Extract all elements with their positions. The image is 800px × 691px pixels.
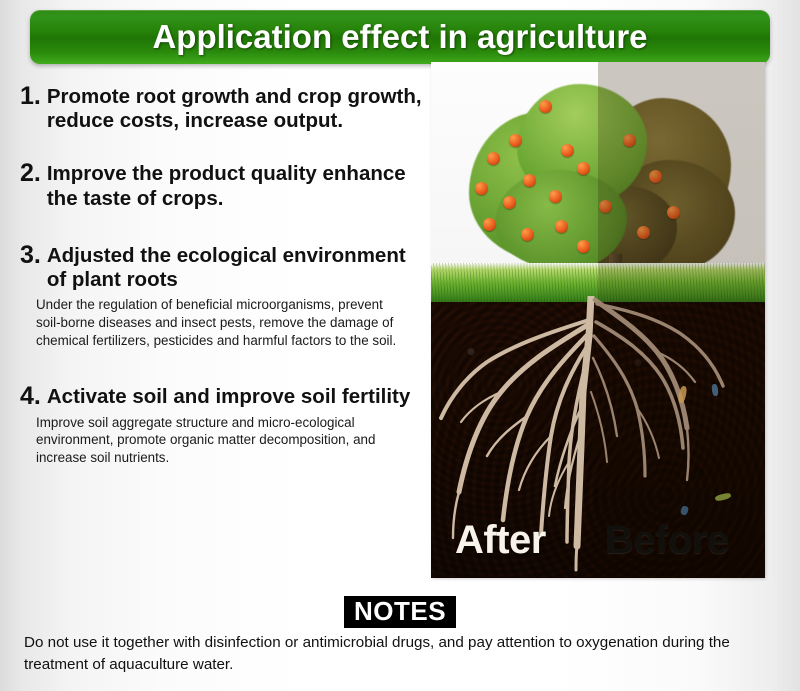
fruit-icon xyxy=(555,220,568,233)
figure-label-before: Before xyxy=(605,520,729,560)
list-item-1-heading: Promote root growth and crop growth, red… xyxy=(47,82,430,133)
fruit-icon xyxy=(577,240,590,253)
notes-badge-label: NOTES xyxy=(354,596,446,626)
list-item-4: 4. Activate soil and improve soil fertil… xyxy=(20,382,430,467)
list-item-4-heading: Activate soil and improve soil fertility xyxy=(47,382,430,409)
fruit-icon xyxy=(487,152,500,165)
fruit-icon xyxy=(523,174,536,187)
fruit-icon xyxy=(549,190,562,203)
fruit-icon xyxy=(509,134,522,147)
notes-badge: NOTES xyxy=(344,596,456,628)
fruit-icon xyxy=(503,196,516,209)
benefits-list: 1. Promote root growth and crop growth, … xyxy=(20,80,430,590)
figure-label-after: After xyxy=(455,520,546,560)
list-item-1: 1. Promote root growth and crop growth, … xyxy=(20,82,430,133)
fruit-icon xyxy=(667,206,680,219)
fruit-icon xyxy=(483,218,496,231)
before-after-comparison-image: After Before xyxy=(431,62,765,578)
fruit-icon xyxy=(623,134,636,147)
list-item-4-number: 4. xyxy=(20,382,47,410)
fruit-icon xyxy=(637,226,650,239)
fruit-icon xyxy=(561,144,574,157)
page-title: Application effect in agriculture xyxy=(152,18,647,56)
title-banner: Application effect in agriculture xyxy=(30,10,770,64)
notes-text: Do not use it together with disinfection… xyxy=(24,632,780,675)
fruit-icon xyxy=(475,182,488,195)
list-item-1-number: 1. xyxy=(20,82,47,110)
fruit-icon xyxy=(649,170,662,183)
list-item-3-number: 3. xyxy=(20,241,47,269)
list-item-3-body: Under the regulation of beneficial micro… xyxy=(36,296,411,349)
list-item-3-heading: Adjusted the ecological environment of p… xyxy=(47,241,430,292)
fruit-icon xyxy=(599,200,612,213)
poster-root: Application effect in agriculture 1. Pro… xyxy=(0,0,800,691)
list-item-3: 3. Adjusted the ecological environment o… xyxy=(20,241,430,350)
fruit-icon xyxy=(521,228,534,241)
list-item-2-heading: Improve the product quality enhance the … xyxy=(47,159,430,210)
list-item-4-body: Improve soil aggregate structure and mic… xyxy=(36,414,411,467)
fruit-icon xyxy=(539,100,552,113)
list-item-2: 2. Improve the product quality enhance t… xyxy=(20,159,430,210)
tree-canopy xyxy=(459,78,737,274)
list-item-2-number: 2. xyxy=(20,159,47,187)
fruit-icon xyxy=(577,162,590,175)
